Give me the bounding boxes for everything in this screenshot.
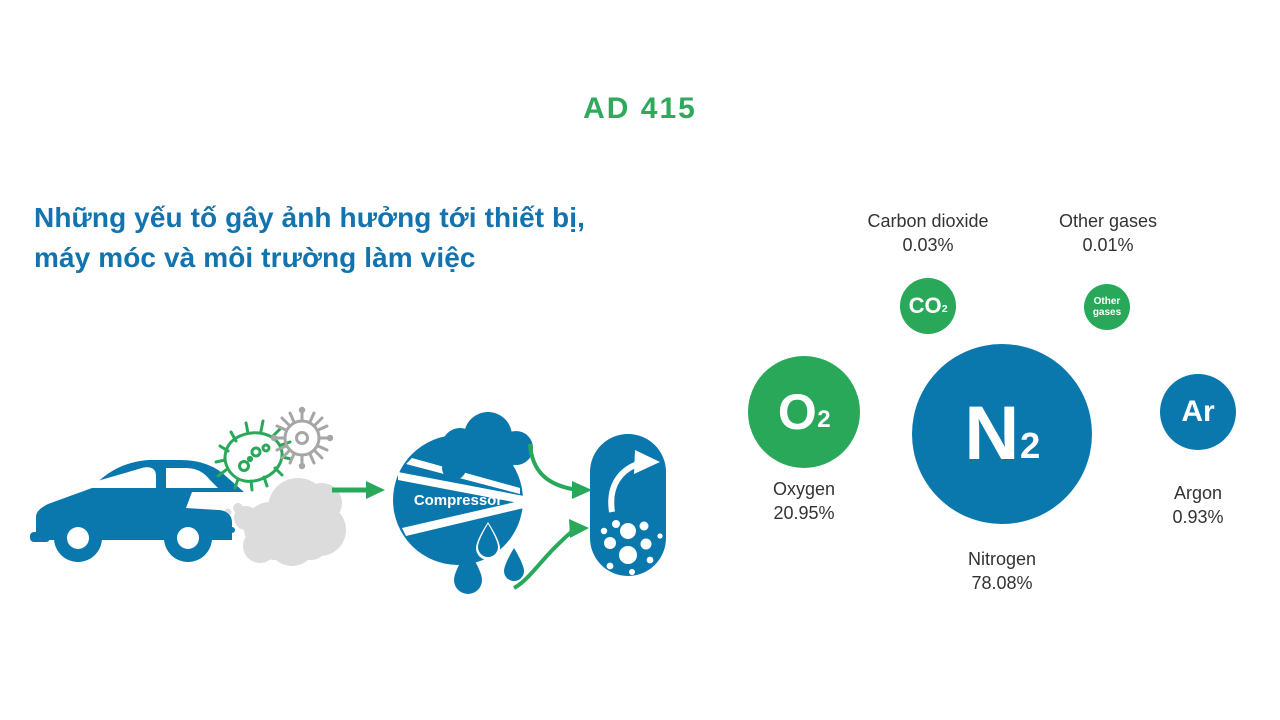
- bubble-oxygen[interactable]: O2: [748, 356, 860, 468]
- car-icon: [30, 460, 244, 562]
- caption-argon: Argon 0.93%: [1138, 482, 1258, 530]
- caption-argon-value: 0.93%: [1138, 506, 1258, 530]
- bubble-other-gases-line-1: Other: [1094, 296, 1121, 307]
- bubble-argon-symbol: Ar: [1181, 397, 1214, 427]
- caption-other-gases: Other gases 0.01%: [1030, 210, 1186, 258]
- bubble-argon[interactable]: Ar: [1160, 374, 1236, 450]
- bubble-oxygen-subscript: 2: [817, 408, 830, 432]
- bubble-nitrogen-symbol: N: [964, 396, 1019, 472]
- caption-oxygen: Oxygen 20.95%: [744, 478, 864, 526]
- air-composition-chart: Carbon dioxide 0.03% CO2 Other gases 0.0…: [730, 196, 1270, 616]
- caption-argon-label: Argon: [1174, 483, 1222, 503]
- caption-oxygen-value: 20.95%: [744, 502, 864, 526]
- caption-carbon-dioxide: Carbon dioxide 0.03%: [848, 210, 1008, 258]
- caption-carbon-dioxide-value: 0.03%: [848, 234, 1008, 258]
- page-title: Những yếu tố gây ảnh hưởng tới thiết bị,…: [34, 198, 724, 278]
- air-contamination-diagram: Compressor: [20, 400, 720, 620]
- bubble-carbon-dioxide-subscript: 2: [942, 304, 948, 315]
- bubble-nitrogen-subscript: 2: [1020, 428, 1040, 464]
- bubble-carbon-dioxide-symbol: CO: [909, 295, 942, 317]
- caption-other-gases-value: 0.01%: [1030, 234, 1186, 258]
- caption-nitrogen: Nitrogen 78.08%: [922, 548, 1082, 596]
- bubble-other-gases[interactable]: Other gases: [1084, 284, 1130, 330]
- air-tank-icon: [590, 434, 666, 576]
- slide-title: AD 415: [0, 92, 1280, 126]
- page-title-line-2: máy móc và môi trường làm việc: [34, 238, 724, 278]
- caption-other-gases-label: Other gases: [1059, 211, 1157, 231]
- caption-nitrogen-value: 78.08%: [922, 572, 1082, 596]
- caption-oxygen-label: Oxygen: [773, 479, 835, 499]
- caption-carbon-dioxide-label: Carbon dioxide: [867, 211, 988, 231]
- page-title-line-1: Những yếu tố gây ảnh hưởng tới thiết bị,: [34, 198, 724, 238]
- bubble-nitrogen[interactable]: N2: [912, 344, 1092, 524]
- bubble-oxygen-symbol: O: [778, 387, 817, 437]
- caption-nitrogen-label: Nitrogen: [968, 549, 1036, 569]
- compressor-label: Compressor: [414, 492, 503, 509]
- bubble-carbon-dioxide[interactable]: CO2: [900, 278, 956, 334]
- curved-arrow-head-icon: [569, 481, 592, 538]
- curved-arrow-icon: [514, 444, 578, 588]
- bubble-other-gases-line-2: gases: [1093, 307, 1121, 318]
